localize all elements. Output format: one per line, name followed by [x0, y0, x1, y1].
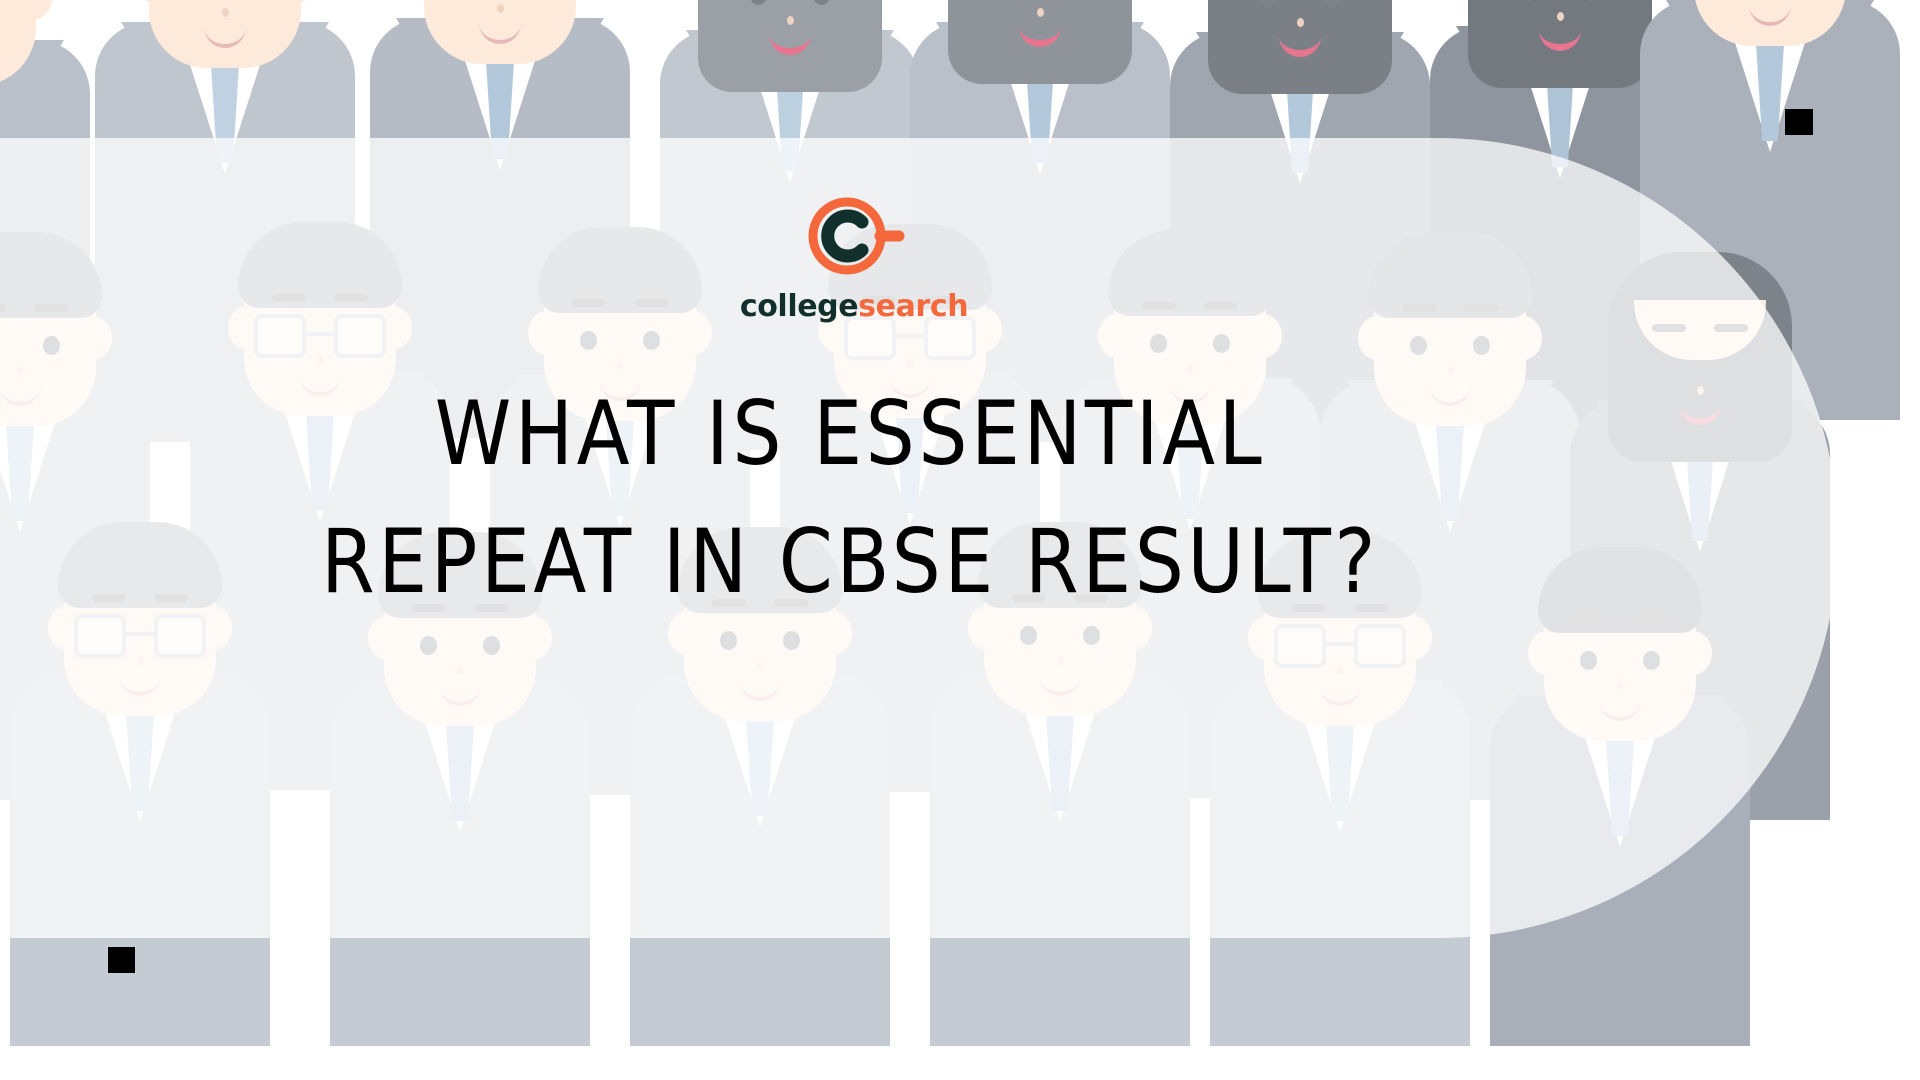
- slide-canvas: collegesearch WHAT IS ESSENTIAL REPEAT I…: [0, 0, 1920, 1080]
- logo-word-college: college: [740, 289, 858, 324]
- headline-line-2: REPEAT IN CBSE RESULT?: [164, 498, 1537, 626]
- collegesearch-logo[interactable]: collegesearch: [740, 190, 968, 322]
- magnifier-c-logo-icon: [802, 190, 906, 286]
- headline-line-1: WHAT IS ESSENTIAL: [164, 370, 1537, 498]
- bottom-white-strip: [0, 1046, 1920, 1080]
- slide-content: collegesearch WHAT IS ESSENTIAL REPEAT I…: [0, 138, 1700, 938]
- page-title: WHAT IS ESSENTIAL REPEAT IN CBSE RESULT?: [164, 370, 1537, 625]
- logo-wordmark: collegesearch: [740, 292, 968, 322]
- marker-bottom-left: [108, 947, 135, 973]
- marker-top-right: [1785, 109, 1813, 135]
- logo-word-search: search: [858, 289, 968, 324]
